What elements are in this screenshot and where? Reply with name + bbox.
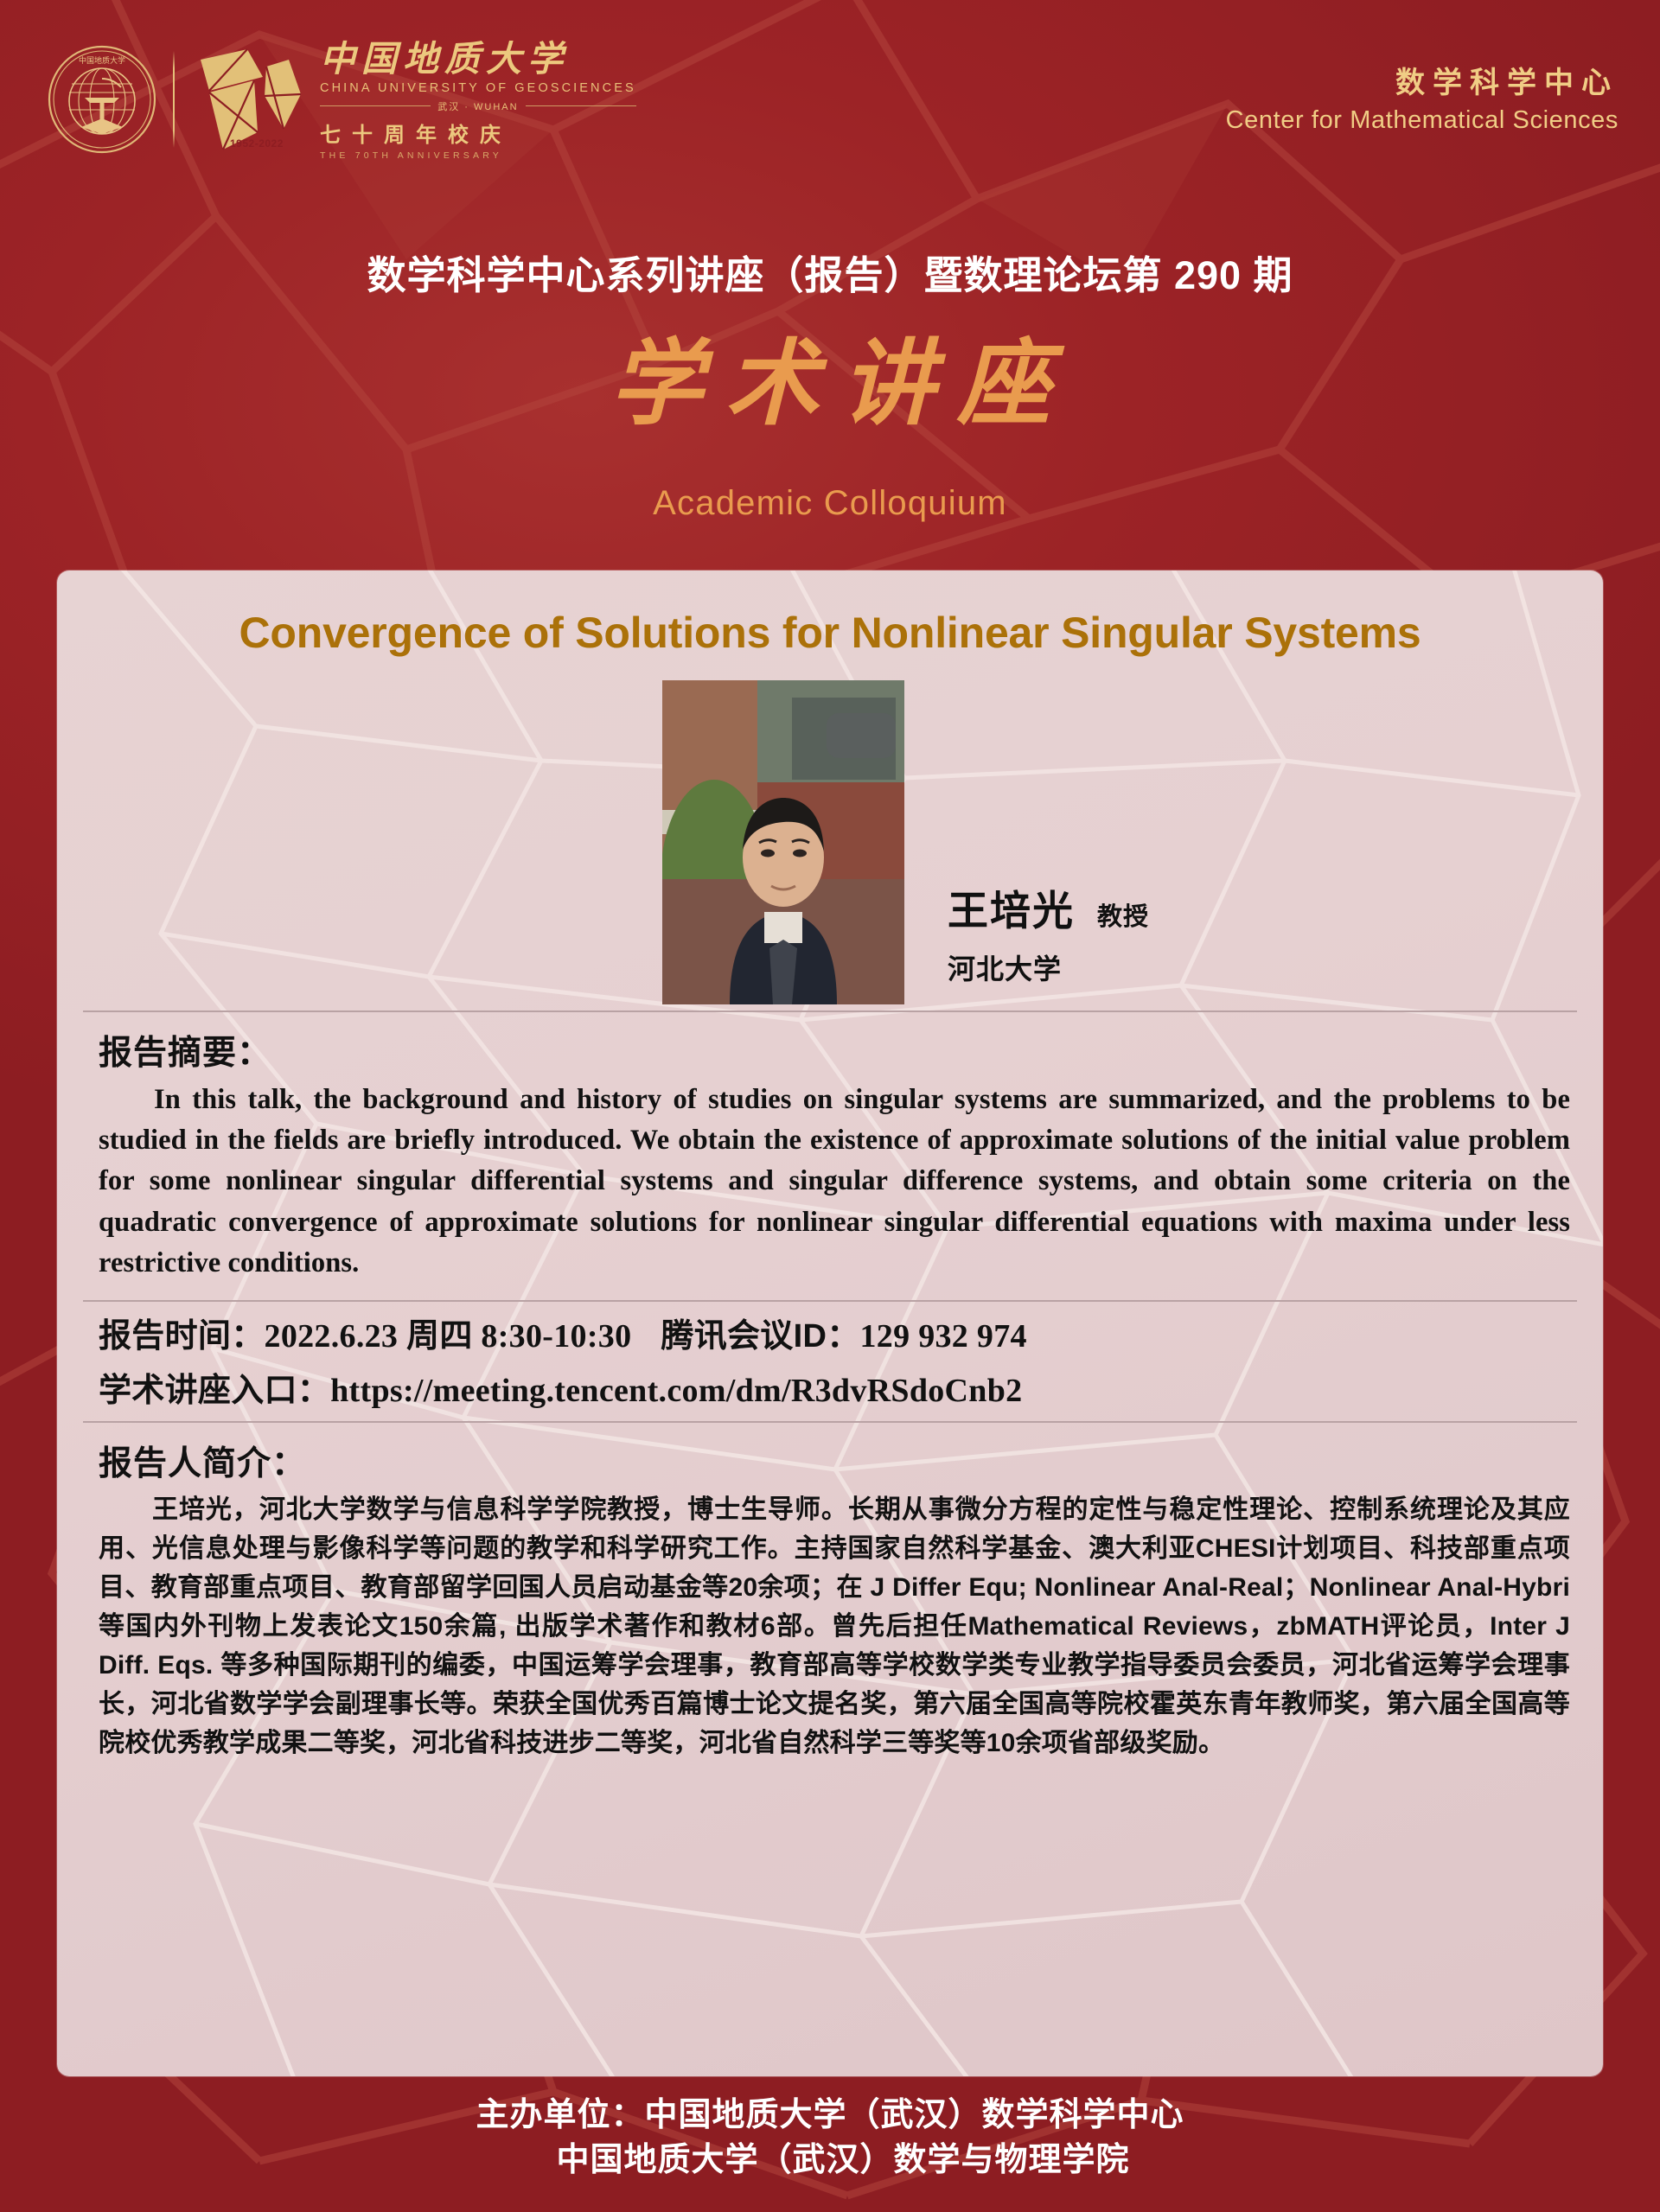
speaker-portrait [662, 680, 904, 1004]
divider-above-meeting [83, 1300, 1577, 1302]
university-name-block: 中国地质大学 CHINA UNIVERSITY OF GEOSCIENCES 武… [320, 38, 636, 161]
meeting-time-line: 报告时间：2022.6.23 周四 8:30-10:30腾讯会议ID：129 9… [99, 1309, 1577, 1356]
rule-left [320, 105, 431, 106]
university-seal-icon: 中国地质大学 [47, 44, 157, 155]
meeting-entry-line[interactable]: 学术讲座入口：https://meeting.tencent.com/dm/R3… [99, 1363, 1577, 1411]
organizer-line-2: 中国地质大学（武汉）数学与物理学院 [0, 2139, 1660, 2183]
bio-heading: 报告人简介： [99, 1437, 1577, 1485]
meeting-id-label: 腾讯会议ID： [661, 1318, 859, 1355]
time-value: 2022.6.23 周四 8:30-10:30 [265, 1318, 632, 1355]
university-name-en: CHINA UNIVERSITY OF GEOSCIENCES [320, 81, 636, 95]
meeting-id-value: 129 932 974 [860, 1318, 1027, 1355]
content-card: Convergence of Solutions for Nonlinear S… [57, 571, 1603, 2076]
calligraphy-title-en: Academic Colloquium [0, 484, 1660, 523]
poster-root: 中国地质大学 1952-2022 [0, 0, 1660, 2212]
anniversary-cn: 七十周年校庆 [320, 118, 636, 148]
card-inner: Convergence of Solutions for Nonlinear S… [83, 571, 1577, 2076]
divider-above-abstract [83, 1010, 1577, 1012]
entry-url[interactable]: https://meeting.tencent.com/dm/R3dvRSdoC… [330, 1373, 1022, 1409]
math-center-name-cn: 数学科学中心 [1226, 67, 1618, 99]
poster-header: 中国地质大学 1952-2022 [0, 0, 1660, 251]
speaker-rank: 教授 [1097, 896, 1149, 933]
calligraphy-title-cn: 学术讲座 [0, 339, 1660, 432]
entry-label: 学术讲座入口： [99, 1373, 330, 1409]
speaker-name: 王培光 [948, 877, 1075, 937]
organizer-line-1: 主办单位：中国地质大学（武汉）数学科学中心 [0, 2094, 1660, 2138]
divider-above-bio [83, 1421, 1577, 1423]
anniversary-years: 1952-2022 [230, 137, 284, 150]
bio-text: 王培光，河北大学数学与信息科学学院教授，博士生导师。长期从事微分方程的定性与稳定… [99, 1490, 1570, 1763]
speaker-row: 王培光 教授 河北大学 [83, 672, 1577, 1010]
talk-title: Convergence of Solutions for Nonlinear S… [83, 571, 1577, 656]
university-city-row: 武汉 · WUHAN [320, 99, 636, 113]
math-center-name-en: Center for Mathematical Sciences [1226, 106, 1618, 135]
abstract-heading: 报告摘要： [99, 1026, 1577, 1074]
speaker-affiliation: 河北大学 [948, 947, 1149, 987]
speaker-name-row: 王培光 教授 [948, 877, 1149, 937]
abstract-text: In this talk, the background and history… [99, 1080, 1570, 1284]
svg-text:中国地质大学: 中国地质大学 [79, 55, 125, 65]
university-name-cn: 中国地质大学 [320, 41, 636, 78]
anniversary-70-mark-icon: 1952-2022 [194, 46, 308, 153]
series-line: 数学科学中心系列讲座（报告）暨数理论坛第 290 期 [0, 244, 1660, 300]
speaker-meta: 王培光 教授 河北大学 [948, 877, 1149, 987]
math-center-brand: 数学科学中心 Center for Mathematical Sciences [1226, 67, 1618, 135]
rule-right [526, 105, 636, 106]
anniversary-en: THE 70TH ANNIVERSARY [320, 150, 636, 161]
brand-divider [173, 51, 175, 148]
poster-footer: 主办单位：中国地质大学（武汉）数学科学中心 中国地质大学（武汉）数学与物理学院 [0, 2094, 1660, 2183]
university-brand: 中国地质大学 1952-2022 [47, 38, 636, 161]
university-city: 武汉 · WUHAN [437, 99, 518, 113]
time-label: 报告时间： [99, 1318, 265, 1355]
